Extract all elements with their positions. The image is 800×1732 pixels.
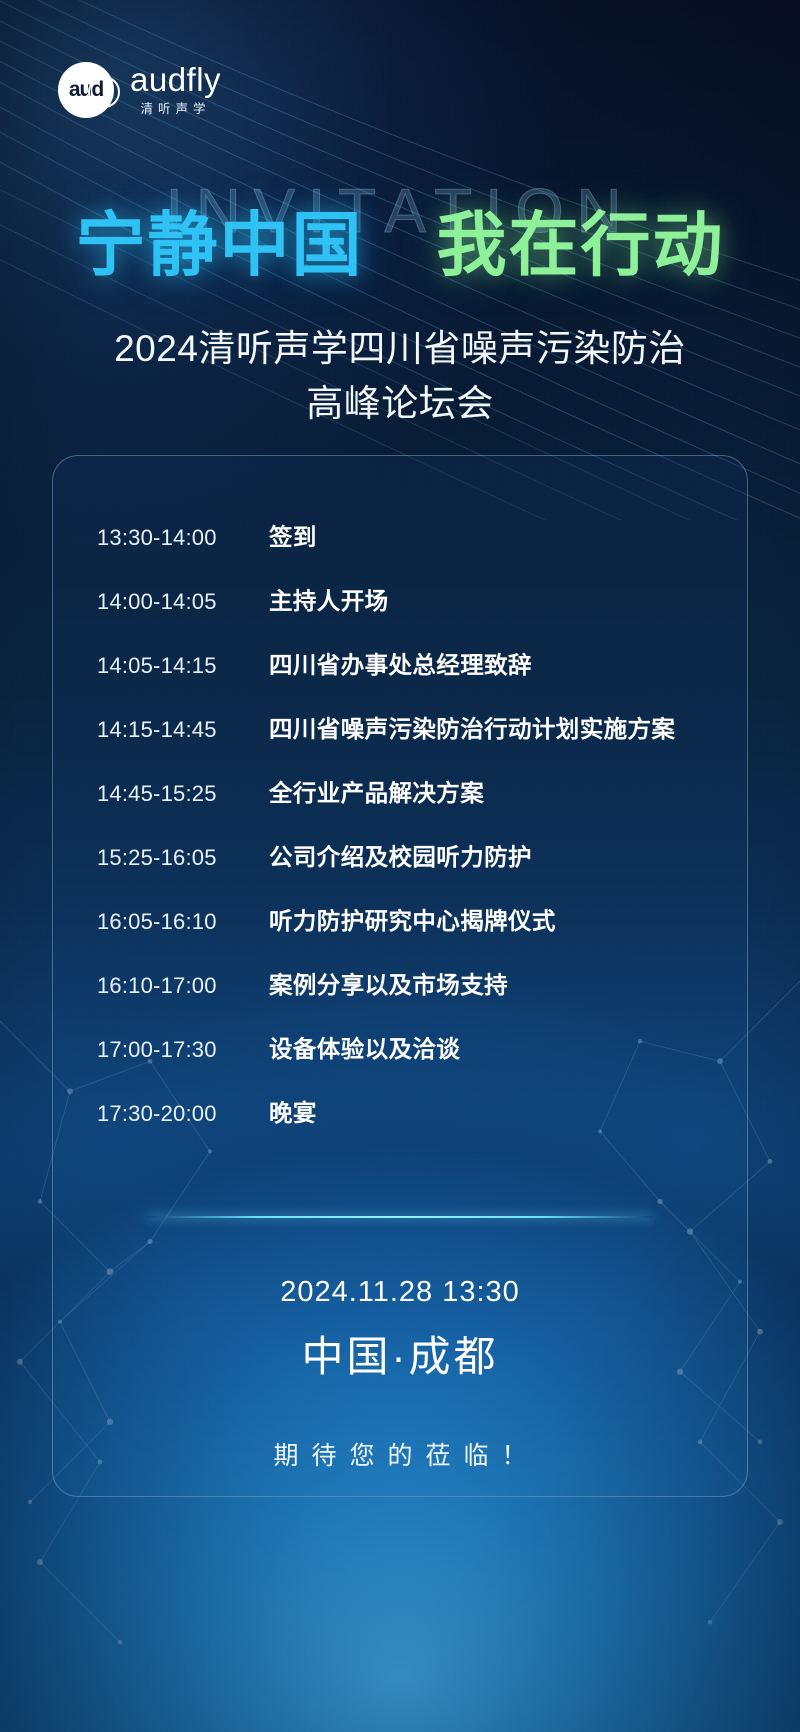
agenda-list: 13:30-14:00 签到 14:00-14:05 主持人开场 14:05-1… bbox=[97, 518, 717, 1158]
agenda-title: 签到 bbox=[269, 518, 317, 552]
agenda-title: 听力防护研究中心揭牌仪式 bbox=[269, 902, 556, 936]
audfly-circle-logo-icon: aud bbox=[58, 62, 114, 118]
agenda-title: 四川省办事处总经理致辞 bbox=[269, 646, 532, 680]
agenda-title: 案例分享以及市场支持 bbox=[269, 966, 508, 1000]
agenda-time: 14:05-14:15 bbox=[97, 653, 269, 679]
brand-logo: aud audfly 清听声学 bbox=[58, 62, 221, 118]
headline-secondary: 我在行动 bbox=[436, 206, 724, 284]
list-item: 17:00-17:30 设备体验以及洽谈 bbox=[97, 1030, 717, 1094]
agenda-time: 14:00-14:05 bbox=[97, 589, 269, 615]
list-item: 14:15-14:45 四川省噪声污染防治行动计划实施方案 bbox=[97, 710, 717, 774]
invitation-poster: aud audfly 清听声学 INVITATION 宁静中国 我在行动 202… bbox=[0, 0, 800, 1732]
agenda-title: 设备体验以及洽谈 bbox=[269, 1030, 460, 1064]
agenda-time: 17:30-20:00 bbox=[97, 1101, 269, 1127]
agenda-title: 晚宴 bbox=[269, 1094, 317, 1128]
event-subtitle: 2024清听声学四川省噪声污染防治 高峰论坛会 bbox=[0, 322, 800, 432]
brand-name-en: audfly bbox=[130, 63, 221, 98]
event-datetime: 2024.11.28 13:30 bbox=[53, 1276, 747, 1309]
list-item: 14:00-14:05 主持人开场 bbox=[97, 582, 717, 646]
agenda-time: 16:10-17:00 bbox=[97, 973, 269, 999]
event-footer: 2024.11.28 13:30 中国·成都 期待您的莅临！ bbox=[53, 1276, 747, 1472]
headline-primary: 宁静中国 bbox=[76, 206, 364, 284]
agenda-time: 14:45-15:25 bbox=[97, 781, 269, 807]
agenda-time: 13:30-14:00 bbox=[97, 525, 269, 551]
welcome-message: 期待您的莅临！ bbox=[53, 1436, 747, 1472]
agenda-time: 16:05-16:10 bbox=[97, 909, 269, 935]
event-location: 中国·成都 bbox=[53, 1323, 747, 1384]
agenda-time: 17:00-17:30 bbox=[97, 1037, 269, 1063]
logo-ring-icon bbox=[88, 76, 120, 108]
list-item: 17:30-20:00 晚宴 bbox=[97, 1094, 717, 1158]
page-title: 宁静中国 我在行动 bbox=[0, 210, 800, 280]
subtitle-line-2: 高峰论坛会 bbox=[0, 377, 800, 432]
list-item: 14:05-14:15 四川省办事处总经理致辞 bbox=[97, 646, 717, 710]
list-item: 16:10-17:00 案例分享以及市场支持 bbox=[97, 966, 717, 1030]
agenda-title: 公司介绍及校园听力防护 bbox=[269, 838, 532, 872]
agenda-title: 四川省噪声污染防治行动计划实施方案 bbox=[269, 710, 675, 744]
agenda-time: 15:25-16:05 bbox=[97, 845, 269, 871]
brand-wordmark: audfly 清听声学 bbox=[130, 63, 221, 118]
subtitle-line-1: 2024清听声学四川省噪声污染防治 bbox=[0, 322, 800, 377]
list-item: 15:25-16:05 公司介绍及校园听力防护 bbox=[97, 838, 717, 902]
list-item: 13:30-14:00 签到 bbox=[97, 518, 717, 582]
list-item: 14:45-15:25 全行业产品解决方案 bbox=[97, 774, 717, 838]
agenda-title: 全行业产品解决方案 bbox=[269, 774, 484, 808]
section-divider bbox=[147, 1216, 653, 1218]
agenda-time: 14:15-14:45 bbox=[97, 717, 269, 743]
list-item: 16:05-16:10 听力防护研究中心揭牌仪式 bbox=[97, 902, 717, 966]
agenda-card: 13:30-14:00 签到 14:00-14:05 主持人开场 14:05-1… bbox=[52, 455, 748, 1497]
agenda-title: 主持人开场 bbox=[269, 582, 389, 616]
brand-name-cn: 清听声学 bbox=[130, 98, 221, 117]
